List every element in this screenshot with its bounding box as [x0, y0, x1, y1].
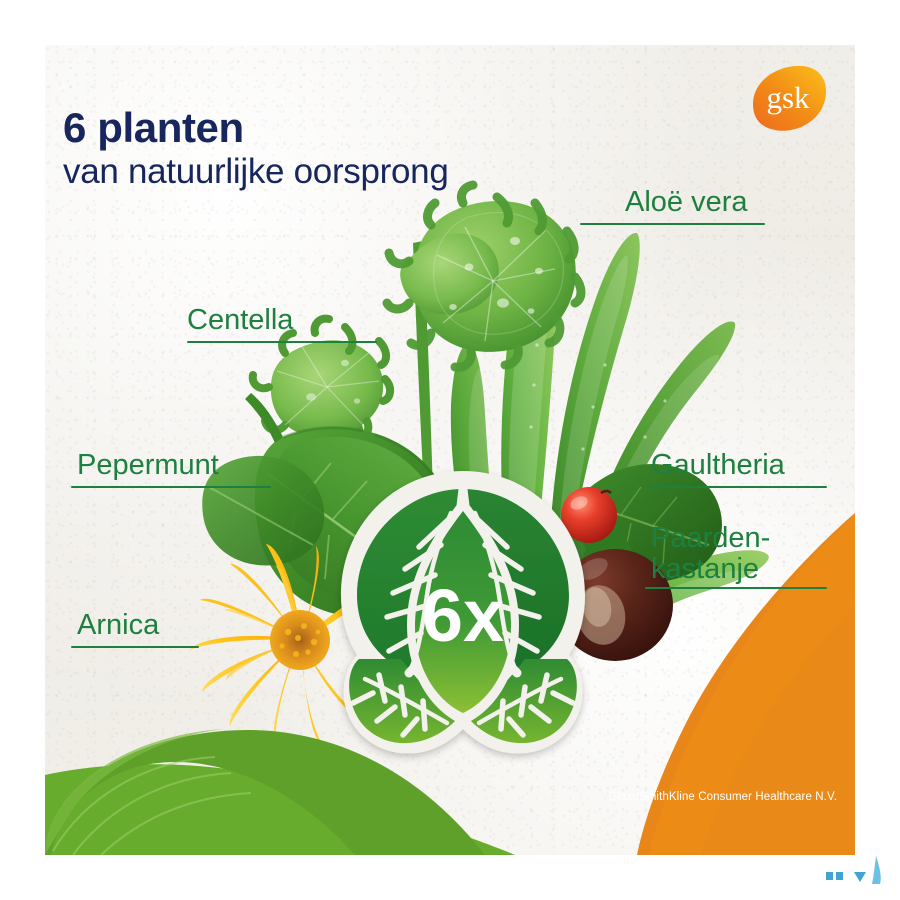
- headline-secondary: van natuurlijke oorsprong: [63, 152, 449, 191]
- callout-label-pepermunt: Pepermunt: [71, 450, 271, 481]
- callout-rule-aloe-vera: [580, 223, 765, 225]
- headline-primary: 6 planten: [63, 107, 449, 150]
- callout-label-centella: Centella: [165, 305, 377, 336]
- callout-aloe-vera: Aloë vera: [580, 187, 765, 225]
- content-card: 6 planten van natuurlijke oorsprong gsk …: [45, 45, 855, 855]
- headline-block: 6 planten van natuurlijke oorsprong: [63, 107, 449, 191]
- badge-value: 6x: [422, 574, 504, 657]
- callout-arnica: Arnica: [71, 610, 199, 648]
- callout-label-aloe-vera: Aloë vera: [580, 187, 765, 218]
- callout-paardenkastanje: Paarden- kastanje: [645, 523, 827, 589]
- footer-credit: GlaxoSmithKline Consumer Healthcare N.V.: [608, 791, 837, 803]
- gsk-logo: gsk: [745, 60, 831, 138]
- callout-rule-centella: [187, 341, 377, 343]
- gsk-logo-wordmark: gsk: [766, 80, 810, 115]
- callout-label-gaultheria: Gaultheria: [645, 450, 827, 481]
- callout-rule-paardenkastanje: [645, 587, 827, 589]
- callout-rule-pepermunt: [71, 486, 271, 488]
- corner-mark-icon: [820, 852, 890, 892]
- callout-rule-arnica: [71, 646, 199, 648]
- callout-gaultheria: Gaultheria: [645, 450, 827, 488]
- callout-label-paardenkastanje-line1: Paarden-: [645, 523, 827, 554]
- callout-centella: Centella: [165, 305, 377, 343]
- six-times-leaf-badge: 6x: [323, 463, 603, 763]
- callout-label-arnica: Arnica: [71, 610, 199, 641]
- callout-pepermunt: Pepermunt: [71, 450, 271, 488]
- callout-label-paardenkastanje-line2: kastanje: [645, 554, 827, 585]
- promo-image: 6 planten van natuurlijke oorsprong gsk …: [0, 0, 900, 900]
- callout-rule-gaultheria: [645, 486, 827, 488]
